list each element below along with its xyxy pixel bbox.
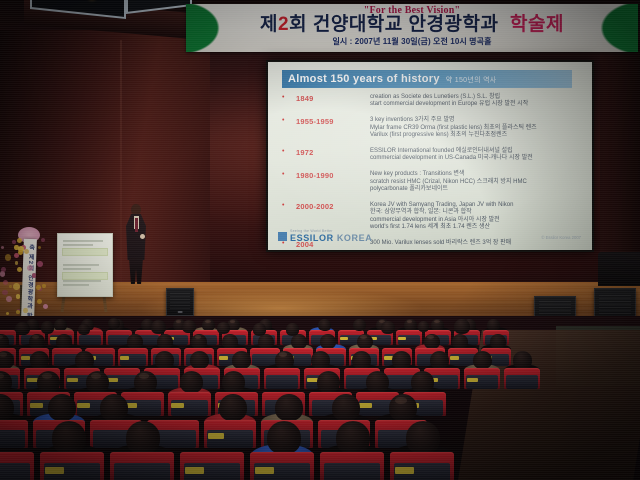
audience-member-head	[232, 351, 251, 369]
poster-text-line	[63, 280, 101, 282]
timeline-year: 1972	[296, 148, 358, 157]
audience-member-head	[54, 319, 67, 331]
poster-text-line	[63, 240, 103, 242]
seat-back	[266, 375, 298, 389]
timeline-year: 1849	[296, 94, 358, 103]
bullet-icon: •	[282, 172, 286, 176]
bullet-icon: •	[282, 149, 286, 153]
audience-member-head	[487, 319, 500, 331]
audience-member-head	[78, 324, 90, 335]
audience-member-head	[29, 334, 45, 349]
presenter-tie	[135, 218, 138, 232]
seat-number-plate	[467, 378, 478, 383]
seat-number-plate	[77, 403, 90, 408]
seat-number-plate	[398, 337, 406, 340]
event-banner: "For the Best Vision" 제2회 건양대학교 안경광학과 학술…	[186, 4, 638, 52]
audience-member-head	[151, 320, 166, 334]
seat-number-plate	[45, 467, 64, 474]
audience-member-head	[404, 319, 417, 331]
seat-number-plate	[395, 467, 414, 474]
wreath-flower	[0, 271, 5, 276]
wreath-flower	[41, 238, 45, 242]
audience-member-head	[430, 351, 449, 369]
bullet-icon: •	[282, 95, 286, 99]
wreath-flower	[3, 280, 8, 285]
audience-member-head	[202, 319, 215, 331]
wreath-flower	[37, 299, 42, 304]
wreath-flower	[23, 308, 28, 313]
audience-member-head	[75, 351, 94, 369]
wreath-flower	[32, 273, 37, 278]
audience-member-head	[56, 334, 72, 349]
wreath-flower	[6, 296, 12, 302]
audience-member-head	[52, 421, 86, 454]
wreath-flower	[2, 290, 8, 296]
banner-number: 2	[278, 14, 289, 35]
seat-back	[324, 463, 380, 480]
audience-member-head	[86, 371, 109, 393]
auditorium-seat	[204, 420, 256, 448]
audience-member-head	[253, 323, 266, 335]
timeline-year: 2000-2002	[296, 202, 358, 211]
auditorium-seat	[40, 452, 104, 480]
audience-member-head	[37, 371, 60, 393]
audience-member-head	[353, 319, 366, 331]
seat-back	[506, 375, 538, 389]
timeline-description: creation as Societe des Lunetiers (S.L.)…	[370, 94, 580, 109]
seat-back	[0, 430, 25, 448]
audience-row	[0, 420, 640, 448]
auditorium-seat	[168, 392, 211, 416]
seat-number-plate	[30, 403, 43, 408]
speaker-badge	[178, 311, 183, 313]
audience-member-head	[15, 322, 29, 336]
poster-text-line	[63, 268, 91, 270]
wreath-flower	[16, 310, 20, 314]
wreath-flower	[18, 250, 23, 255]
auditorium-seat	[504, 368, 540, 389]
seat-back	[79, 335, 102, 345]
presenter-legs	[129, 258, 143, 284]
audience-member-head	[473, 351, 492, 369]
audience-member-head	[406, 421, 440, 454]
audience-member-head	[392, 351, 411, 369]
audience-member-head	[275, 394, 303, 421]
timeline-description: New key products : Transitions 변색scratch…	[370, 171, 580, 193]
audience-member-head	[190, 351, 209, 369]
audience-member-head	[127, 334, 143, 349]
banner-subtitle: 일시 : 2007년 11월 30일(금) 오전 10시 명곡홀	[186, 37, 638, 47]
bullet-icon: •	[282, 203, 286, 207]
slide-timeline-row: •1849creation as Societe des Lunetiers (…	[282, 94, 582, 112]
audience-row	[0, 392, 640, 416]
seat-number-plate	[208, 433, 224, 439]
projected-slide: Almost 150 years of history약 150년의 역사 •1…	[268, 62, 592, 250]
audience-member-head	[311, 351, 330, 369]
auditorium-seat	[396, 330, 422, 345]
seat-number-plate	[359, 403, 372, 408]
audience-member-head	[411, 371, 434, 393]
banner-ordinal: 제	[260, 14, 278, 35]
logo-text: ESSILOR KOREA	[290, 233, 372, 243]
timeline-year: 1980-1990	[296, 171, 358, 180]
audience-member-head	[48, 394, 76, 421]
banner-ordinal-suffix: 회	[289, 14, 307, 35]
banner-event: 학술제	[510, 14, 564, 35]
logo-region: KOREA	[337, 233, 373, 243]
audience-member-head	[182, 320, 196, 334]
grand-piano	[598, 252, 640, 286]
auditorium-seat	[264, 368, 300, 389]
audience-member-head	[126, 421, 160, 454]
audience-member-head	[454, 319, 470, 334]
wreath-flower	[38, 246, 41, 249]
program-poster	[57, 233, 113, 297]
audience-member-head	[286, 323, 299, 336]
presenter-hand	[140, 234, 145, 239]
auditorium-seat	[180, 452, 244, 480]
timeline-description: 3 key inventions 3가지 주요 발명Mylar frame CR…	[370, 117, 580, 139]
audience-member-head	[366, 371, 389, 393]
audience-member-head	[513, 351, 532, 369]
audience-member-head	[180, 371, 203, 393]
wreath-flower	[1, 267, 6, 272]
audience-member-head	[108, 318, 120, 329]
slide-timeline-rows: •1849creation as Societe des Lunetiers (…	[282, 94, 582, 250]
audience-member-head	[155, 351, 174, 369]
poster-highlight-band	[62, 272, 108, 280]
wreath-flower	[1, 246, 5, 250]
auditorium-seat	[390, 452, 454, 480]
audience-member-head	[381, 321, 395, 334]
timeline-description: ESSILOR International founded 에실로인터내셔널 설…	[370, 148, 580, 163]
auditorium-seat	[0, 420, 28, 448]
audience-member-head	[332, 394, 360, 421]
auditorium-seat	[320, 452, 384, 480]
wreath-flower	[9, 285, 13, 289]
slide-footer: Seeing the World Better ESSILOR KOREA © …	[278, 231, 583, 245]
wreath-flower	[12, 240, 16, 244]
seat-number-plate	[450, 356, 459, 360]
audience-member-head	[352, 351, 371, 369]
audience-member-head	[424, 334, 440, 349]
auditorium-seat	[250, 452, 314, 480]
seat-number-plate	[307, 378, 318, 383]
seat-number-plate	[255, 467, 274, 474]
poster-text-line	[63, 244, 93, 246]
audience-member-head	[275, 351, 294, 369]
poster-text-line	[63, 284, 89, 286]
auditorium-seat	[118, 348, 148, 366]
auditorium-photo: "For the Best Vision" 제2회 건양대학교 안경광학과 학술…	[0, 0, 640, 480]
presenter-head	[131, 204, 141, 215]
banner-title: 제2회 건양대학교 안경광학과 학술제	[186, 14, 638, 36]
audience-member-head	[389, 394, 417, 421]
audience-member-head	[30, 351, 49, 369]
seat-number-plate	[67, 378, 78, 383]
slide-timeline-row: •1980-1990New key products : Transitions…	[282, 171, 582, 197]
audience-member-head	[217, 322, 230, 334]
poster-text-line	[63, 264, 99, 266]
seat-number-plate	[171, 403, 184, 408]
speaker-grill	[170, 293, 191, 309]
timeline-year: 1955-1959	[296, 117, 358, 126]
auditorium-seat	[0, 452, 34, 480]
seat-back	[114, 463, 170, 480]
logo-name: ESSILOR	[290, 233, 334, 243]
auditorium-seat	[110, 452, 174, 480]
audience-member-head	[336, 421, 370, 454]
wreath-flower	[17, 238, 22, 243]
slide-timeline-row: •1955-19593 key inventions 3가지 주요 발명Myla…	[282, 117, 582, 143]
audience-member-head	[157, 334, 173, 349]
audience-member-head	[191, 334, 207, 349]
wreath-flower	[17, 267, 22, 272]
wreath-flower	[24, 249, 29, 254]
audience-member-head	[100, 394, 128, 421]
wreath-flower	[5, 254, 11, 260]
wreath-flower	[42, 284, 46, 288]
audience-member-head	[452, 334, 468, 349]
audience-member-head	[258, 334, 274, 349]
wreath-flower	[37, 261, 43, 267]
wreath-flower	[36, 285, 41, 290]
audience-member-head	[317, 371, 340, 393]
banner-organization: 건양대학교 안경광학과	[313, 14, 499, 35]
slide-title-text: Almost 150 years of history	[288, 73, 440, 85]
audience-member-head	[134, 371, 157, 393]
wreath-flower	[6, 312, 9, 315]
auditorium-seat	[464, 368, 500, 389]
seat-number-plate	[185, 467, 204, 474]
audience-member-head	[267, 421, 301, 454]
bullet-icon: •	[282, 118, 286, 122]
slide-title-korean: 약 150년의 역사	[446, 77, 497, 84]
stage-monitor-left	[166, 288, 194, 316]
slide-timeline-row: •1972ESSILOR International founded 에실로인터…	[282, 148, 582, 166]
audience-member-head	[320, 334, 336, 349]
wreath-flower	[15, 261, 18, 264]
poster-highlight-band	[62, 248, 108, 256]
wreath-flower	[43, 304, 48, 309]
audience-row	[0, 452, 640, 480]
audience-member-head	[418, 321, 429, 332]
audience-member-head	[219, 394, 247, 421]
slide-copyright: © Essilor Korea 2007	[541, 235, 581, 240]
seat-number-plate	[120, 356, 129, 360]
essilor-logo-icon	[278, 232, 287, 241]
audience-member-head	[222, 334, 238, 349]
seat-number-plate	[340, 337, 348, 340]
seat-back	[0, 463, 30, 480]
seat-number-plate	[219, 356, 228, 360]
timeline-description: Korea JV with Samyang Trading, Japan JV …	[370, 202, 580, 232]
audience-member-head	[357, 334, 373, 349]
audience-member-head	[41, 321, 55, 334]
slide-title: Almost 150 years of history약 150년의 역사	[288, 71, 578, 87]
wall-seam	[120, 40, 122, 300]
presenter	[126, 204, 146, 282]
audience-member-head	[490, 334, 506, 349]
audience-member-head	[222, 371, 245, 393]
audience-member-head	[431, 319, 444, 331]
audience-member-head	[319, 320, 330, 331]
audience-member-head	[291, 334, 307, 349]
